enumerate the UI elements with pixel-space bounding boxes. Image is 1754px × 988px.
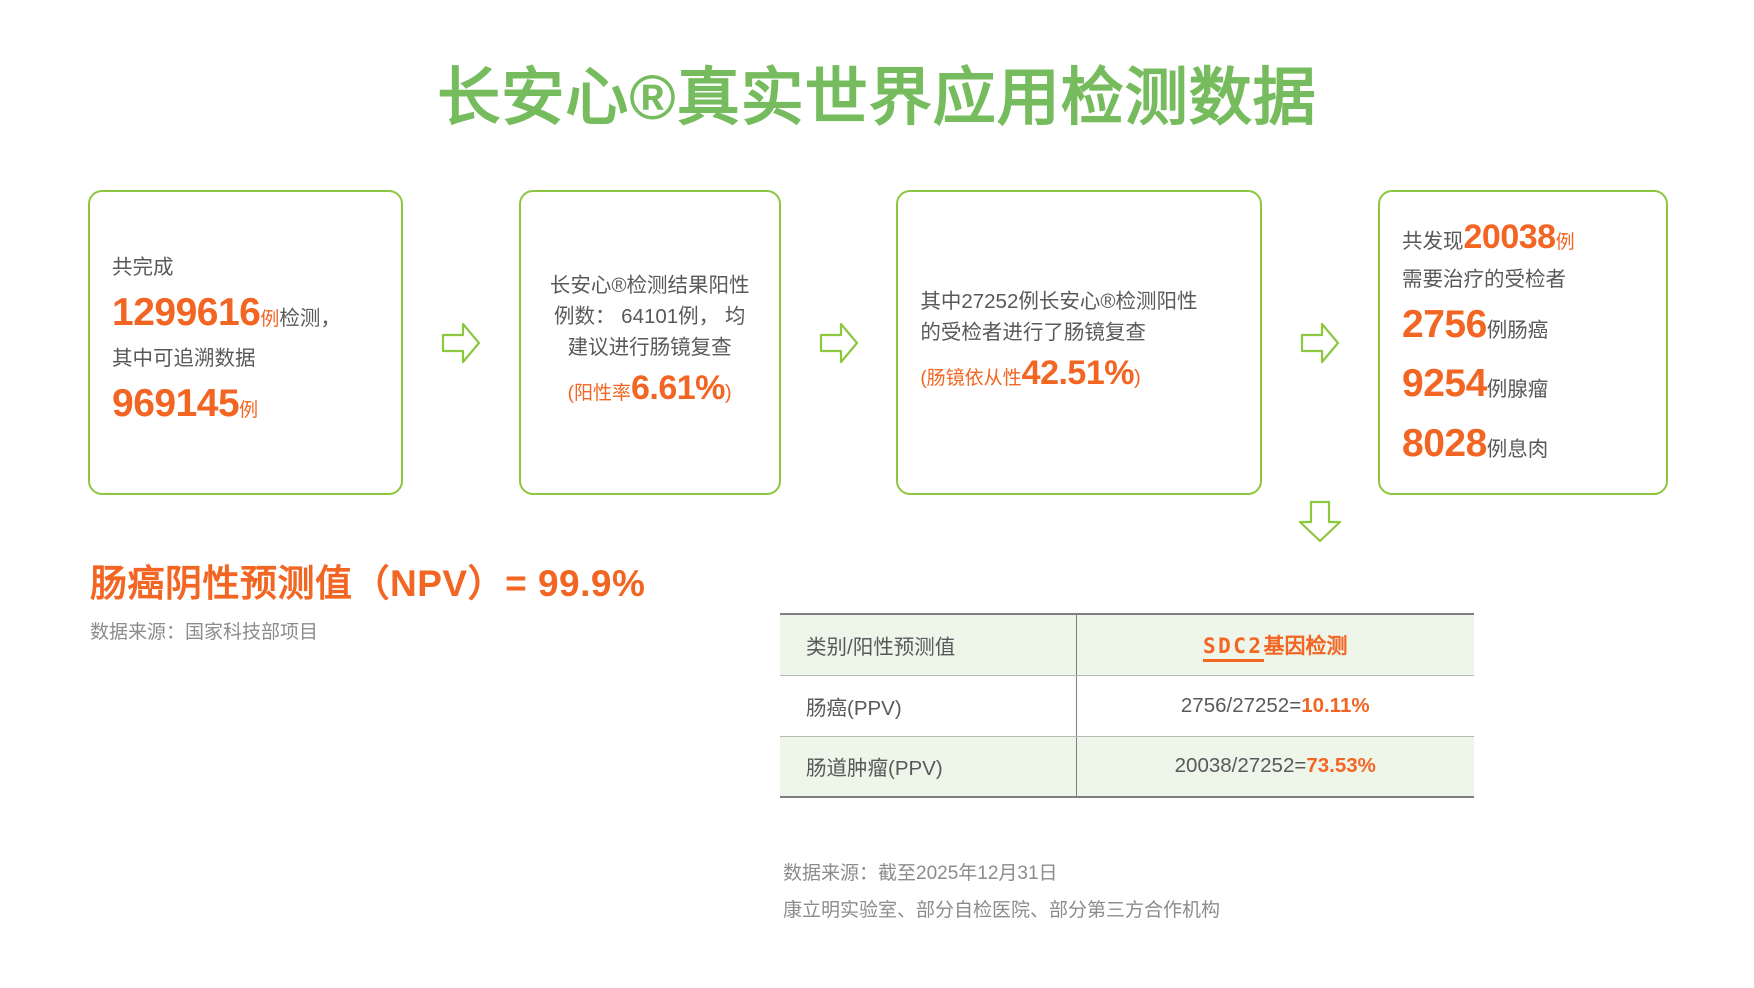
flow-diagram: 共完成 1299616例检测， 其中可追溯数据 969145例 长安心®检测结果… — [88, 190, 1668, 495]
flow-line: 其中27252例长安心®检测阳性 — [920, 286, 1238, 317]
ppv-fraction: 2756/27252= — [1181, 694, 1301, 717]
table-cell-label: 肠道肿瘤(PPV) — [780, 736, 1076, 797]
table-row: 肠癌(PPV) 2756/27252=10.11% — [780, 675, 1474, 736]
sdc2-suffix: 基因检测 — [1264, 635, 1348, 658]
flow-box-positive-results: 长安心®检测结果阳性 例数： 64101例， 均 建议进行肠镜复查 (阳性率6.… — [519, 190, 781, 495]
stat-unit: 例 — [1556, 232, 1575, 253]
text-span: 共完成 — [112, 256, 174, 279]
stat-unit: 例 — [260, 309, 279, 330]
arrow-right-icon — [441, 321, 481, 365]
npv-source-note: 数据来源：国家科技部项目 — [90, 617, 318, 644]
text-span: 需要治疗的受检者 — [1402, 268, 1566, 291]
flow-line: 长安心®检测结果阳性 — [543, 270, 757, 301]
flow-arrow-1 — [403, 190, 519, 495]
ppv-fraction: 20038/27252= — [1175, 754, 1307, 777]
arrow-down-icon — [1297, 500, 1343, 544]
stat-value: 2756 — [1402, 303, 1487, 346]
flow-line: 的受检者进行了肠镜复查 — [920, 317, 1238, 348]
text-span: 其中27252例长安心®检测阳性 — [920, 290, 1197, 313]
stat-label: (肠镜依从性 — [920, 368, 1021, 389]
source-line-2: 康立明实验室、部分自检医院、部分第三方合作机构 — [783, 892, 1220, 929]
page-title: 长安心®真实世界应用检测数据 — [0, 62, 1754, 134]
text-span: 长安心®检测结果阳性 — [550, 274, 750, 297]
flow-line: 需要治疗的受检者 — [1402, 264, 1644, 295]
text-span: 的受检者进行了肠镜复查 — [920, 321, 1146, 344]
flow-line: 共完成 — [112, 252, 379, 283]
table-cell-value: 2756/27252=10.11% — [1076, 675, 1474, 736]
stat-value: 20038 — [1464, 218, 1556, 256]
stat-unit: 例腺瘤 — [1487, 378, 1549, 401]
stat-value: 8028 — [1402, 422, 1487, 465]
text-span: 共发现 — [1402, 230, 1464, 253]
flow-line: 8028例息肉 — [1402, 414, 1644, 473]
flow-box-colonoscopy-followup: 其中27252例长安心®检测阳性 的受检者进行了肠镜复查 (肠镜依从性42.51… — [896, 190, 1262, 495]
source-line-1: 数据来源：截至2025年12月31日 — [783, 855, 1220, 892]
table-cell-label: 肠癌(PPV) — [780, 675, 1076, 736]
table-row: 肠道肿瘤(PPV) 20038/27252=73.53% — [780, 736, 1474, 797]
flow-line: 其中可追溯数据 — [112, 343, 379, 374]
stat-unit: 例息肉 — [1487, 438, 1549, 461]
stat-value: 9254 — [1402, 362, 1487, 405]
flow-box-findings: 共发现20038例 需要治疗的受检者 2756例肠癌 9254例腺瘤 8028例… — [1378, 190, 1668, 495]
sdc2-logo: SDC2 — [1203, 634, 1264, 662]
stat-unit: 例肠癌 — [1487, 319, 1549, 342]
flow-line: 2756例肠癌 — [1402, 295, 1644, 354]
flow-line: 共发现20038例 — [1402, 212, 1644, 264]
table-header-assay: SDC2基因检测 — [1076, 614, 1474, 675]
stat-value: 1299616 — [112, 291, 260, 334]
table-cell-value: 20038/27252=73.53% — [1076, 736, 1474, 797]
flow-arrow-down — [1297, 500, 1343, 549]
text-span: ) — [1134, 366, 1141, 389]
text-span: ) — [725, 381, 732, 404]
flow-line: (肠镜依从性42.51%) — [920, 348, 1238, 400]
text-span: 检测， — [279, 307, 341, 330]
table-header-row: 类别/阳性预测值 SDC2基因检测 — [780, 614, 1474, 675]
ppv-table: 类别/阳性预测值 SDC2基因检测 肠癌(PPV) 2756/27252=10.… — [780, 613, 1474, 798]
table-header-category: 类别/阳性预测值 — [780, 614, 1076, 675]
ppv-percent: 73.53% — [1306, 754, 1376, 777]
flow-line: 969145例 — [112, 374, 379, 433]
table-source-note: 数据来源：截至2025年12月31日 康立明实验室、部分自检医院、部分第三方合作… — [783, 855, 1220, 929]
npv-headline: 肠癌阴性预测值（NPV）= 99.9% — [90, 553, 645, 607]
arrow-right-icon — [1300, 321, 1340, 365]
flow-arrow-2 — [781, 190, 897, 495]
stat-value: 969145 — [112, 382, 239, 425]
text-span: 例数： 64101例， 均 — [554, 305, 745, 328]
flow-box-total-tests: 共完成 1299616例检测， 其中可追溯数据 969145例 — [88, 190, 403, 495]
text-span: 建议进行肠镜复查 — [568, 336, 732, 359]
stat-value: 42.51% — [1022, 354, 1134, 392]
stat-value: 6.61% — [631, 369, 725, 407]
flow-line: 建议进行肠镜复查 — [543, 332, 757, 363]
text-span: 其中可追溯数据 — [112, 347, 256, 370]
flow-line: (阳性率6.61%) — [543, 363, 757, 415]
flow-line: 1299616例检测， — [112, 283, 379, 342]
flow-arrow-3 — [1262, 190, 1378, 495]
arrow-right-icon — [819, 321, 859, 365]
stat-unit: 例 — [239, 400, 258, 421]
stat-label: (阳性率 — [568, 383, 631, 404]
flow-line: 例数： 64101例， 均 — [543, 301, 757, 332]
flow-line: 9254例腺瘤 — [1402, 354, 1644, 413]
ppv-percent: 10.11% — [1301, 694, 1369, 717]
